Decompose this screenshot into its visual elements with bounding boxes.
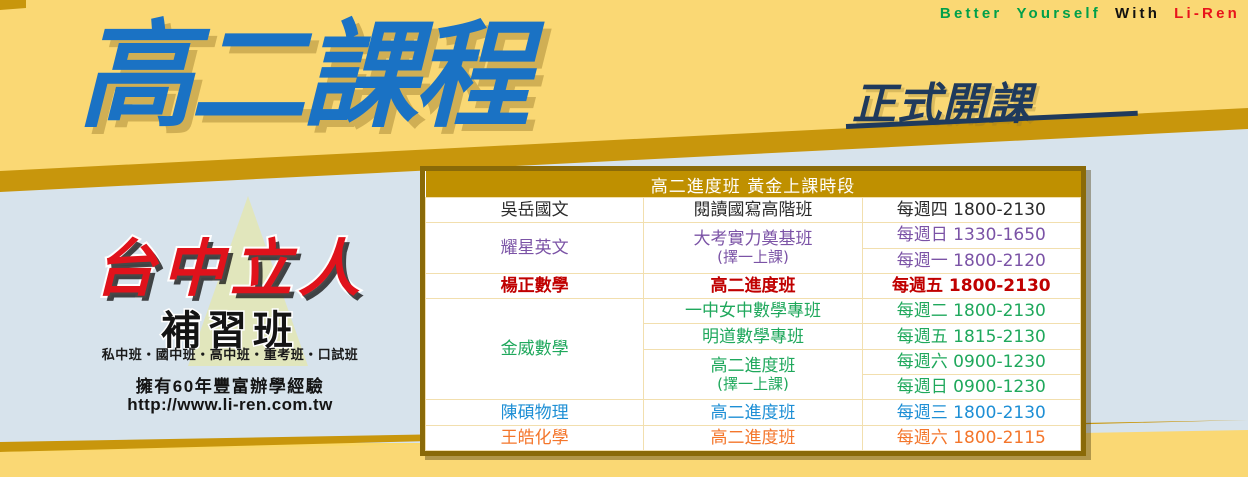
schedule-course-cell: 高二進度班 (644, 400, 862, 425)
schedule-course-name: 大考實力奠基班 (693, 229, 812, 249)
schedule-course-cell: 高二進度班(擇一上課) (644, 349, 862, 400)
table-row: 金威數學一中女中數學專班每週二 1800-2130 (426, 299, 1081, 324)
schedule-time-cell: 每週五 1815-2130 (862, 324, 1080, 349)
schedule-table: 高二進度班 黃金上課時段 吳岳國文閱讀國寫高階班每週四 1800-2130耀星英… (425, 171, 1081, 451)
schedule-time-cell: 每週二 1800-2130 (862, 299, 1080, 324)
schedule-header-row: 高二進度班 黃金上課時段 (426, 171, 1081, 198)
schedule-course-name: 高二進度班 (710, 276, 795, 296)
schedule-teacher-cell: 金威數學 (426, 299, 644, 400)
schedule-course-note: (擇一上課) (648, 376, 857, 394)
schedule-time-cell: 每週三 1800-2130 (862, 400, 1080, 425)
schedule-course-name: 高二進度班 (710, 428, 795, 448)
schedule-course-name: 明道數學專班 (702, 327, 804, 347)
tagline-word-better: Better (940, 5, 1003, 22)
schedule-time-cell: 每週五 1800-2130 (862, 273, 1080, 298)
schedule-table-head: 高二進度班 黃金上課時段 (426, 171, 1081, 198)
tagline-word-with: With (1115, 5, 1160, 22)
schedule-teacher-cell: 耀星英文 (426, 223, 644, 274)
table-row: 吳岳國文閱讀國寫高階班每週四 1800-2130 (426, 198, 1081, 223)
schedule-time-cell: 每週六 0900-1230 (862, 349, 1080, 374)
table-row: 陳碩物理高二進度班每週三 1800-2130 (426, 400, 1081, 425)
schedule-time-cell: 每週日 0900-1230 (862, 375, 1080, 400)
schedule-course-name: 高二進度班 (710, 356, 795, 376)
schedule-course-cell: 大考實力奠基班(擇一上課) (644, 223, 862, 274)
logo: 台中立人 補習班 私中班・國中班・高中班・重考班・口試班 擁有60年豐富辦學經驗… (40, 196, 420, 436)
logo-website-url[interactable]: http://www.li-ren.com.tw (40, 395, 420, 415)
schedule-course-name: 高二進度班 (710, 403, 795, 423)
schedule-table-body: 吳岳國文閱讀國寫高階班每週四 1800-2130耀星英文大考實力奠基班(擇一上課… (426, 198, 1081, 451)
logo-class-list: 私中班・國中班・高中班・重考班・口試班 (40, 344, 420, 363)
schedule-teacher-cell: 王皓化學 (426, 425, 644, 450)
page-title: 高二課程 (78, 16, 526, 138)
schedule-time-cell: 每週六 1800-2115 (862, 425, 1080, 450)
table-row: 王皓化學高二進度班每週六 1800-2115 (426, 425, 1081, 450)
schedule-time-cell: 每週四 1800-2130 (862, 198, 1080, 223)
table-row: 楊正數學高二進度班每週五 1800-2130 (426, 273, 1081, 298)
tagline-word-liren: Li-Ren (1174, 5, 1240, 22)
schedule-header-title: 高二進度班 黃金上課時段 (426, 171, 1081, 198)
schedule-course-name: 一中女中數學專班 (685, 301, 821, 321)
schedule-teacher-cell: 陳碩物理 (426, 400, 644, 425)
schedule-course-cell: 閱讀國寫高階班 (644, 198, 862, 223)
schedule-course-cell: 高二進度班 (644, 425, 862, 450)
schedule-table-container: 高二進度班 黃金上課時段 吳岳國文閱讀國寫高階班每週四 1800-2130耀星英… (420, 166, 1086, 456)
schedule-course-cell: 高二進度班 (644, 273, 862, 298)
logo-experience-text: 擁有60年豐富辦學經驗 (40, 372, 420, 397)
schedule-time-cell: 每週一 1800-2120 (862, 248, 1080, 273)
schedule-teacher-cell: 楊正數學 (426, 273, 644, 298)
table-row: 耀星英文大考實力奠基班(擇一上課)每週日 1330-1650 (426, 223, 1081, 248)
tagline: Better Yourself With Li-Ren (640, 2, 1240, 24)
schedule-course-name: 閱讀國寫高階班 (693, 200, 812, 220)
schedule-course-note: (擇一上課) (648, 249, 857, 267)
logo-brand-name: 台中立人 (40, 218, 420, 308)
schedule-time-cell: 每週日 1330-1650 (862, 223, 1080, 248)
poster-canvas: Better Yourself With Li-Ren 高二課程 正式開課 台中… (0, 0, 1248, 477)
tagline-word-yourself: Yourself (1016, 5, 1101, 22)
schedule-teacher-cell: 吳岳國文 (426, 198, 644, 223)
schedule-course-cell: 明道數學專班 (644, 324, 862, 349)
schedule-course-cell: 一中女中數學專班 (644, 299, 862, 324)
